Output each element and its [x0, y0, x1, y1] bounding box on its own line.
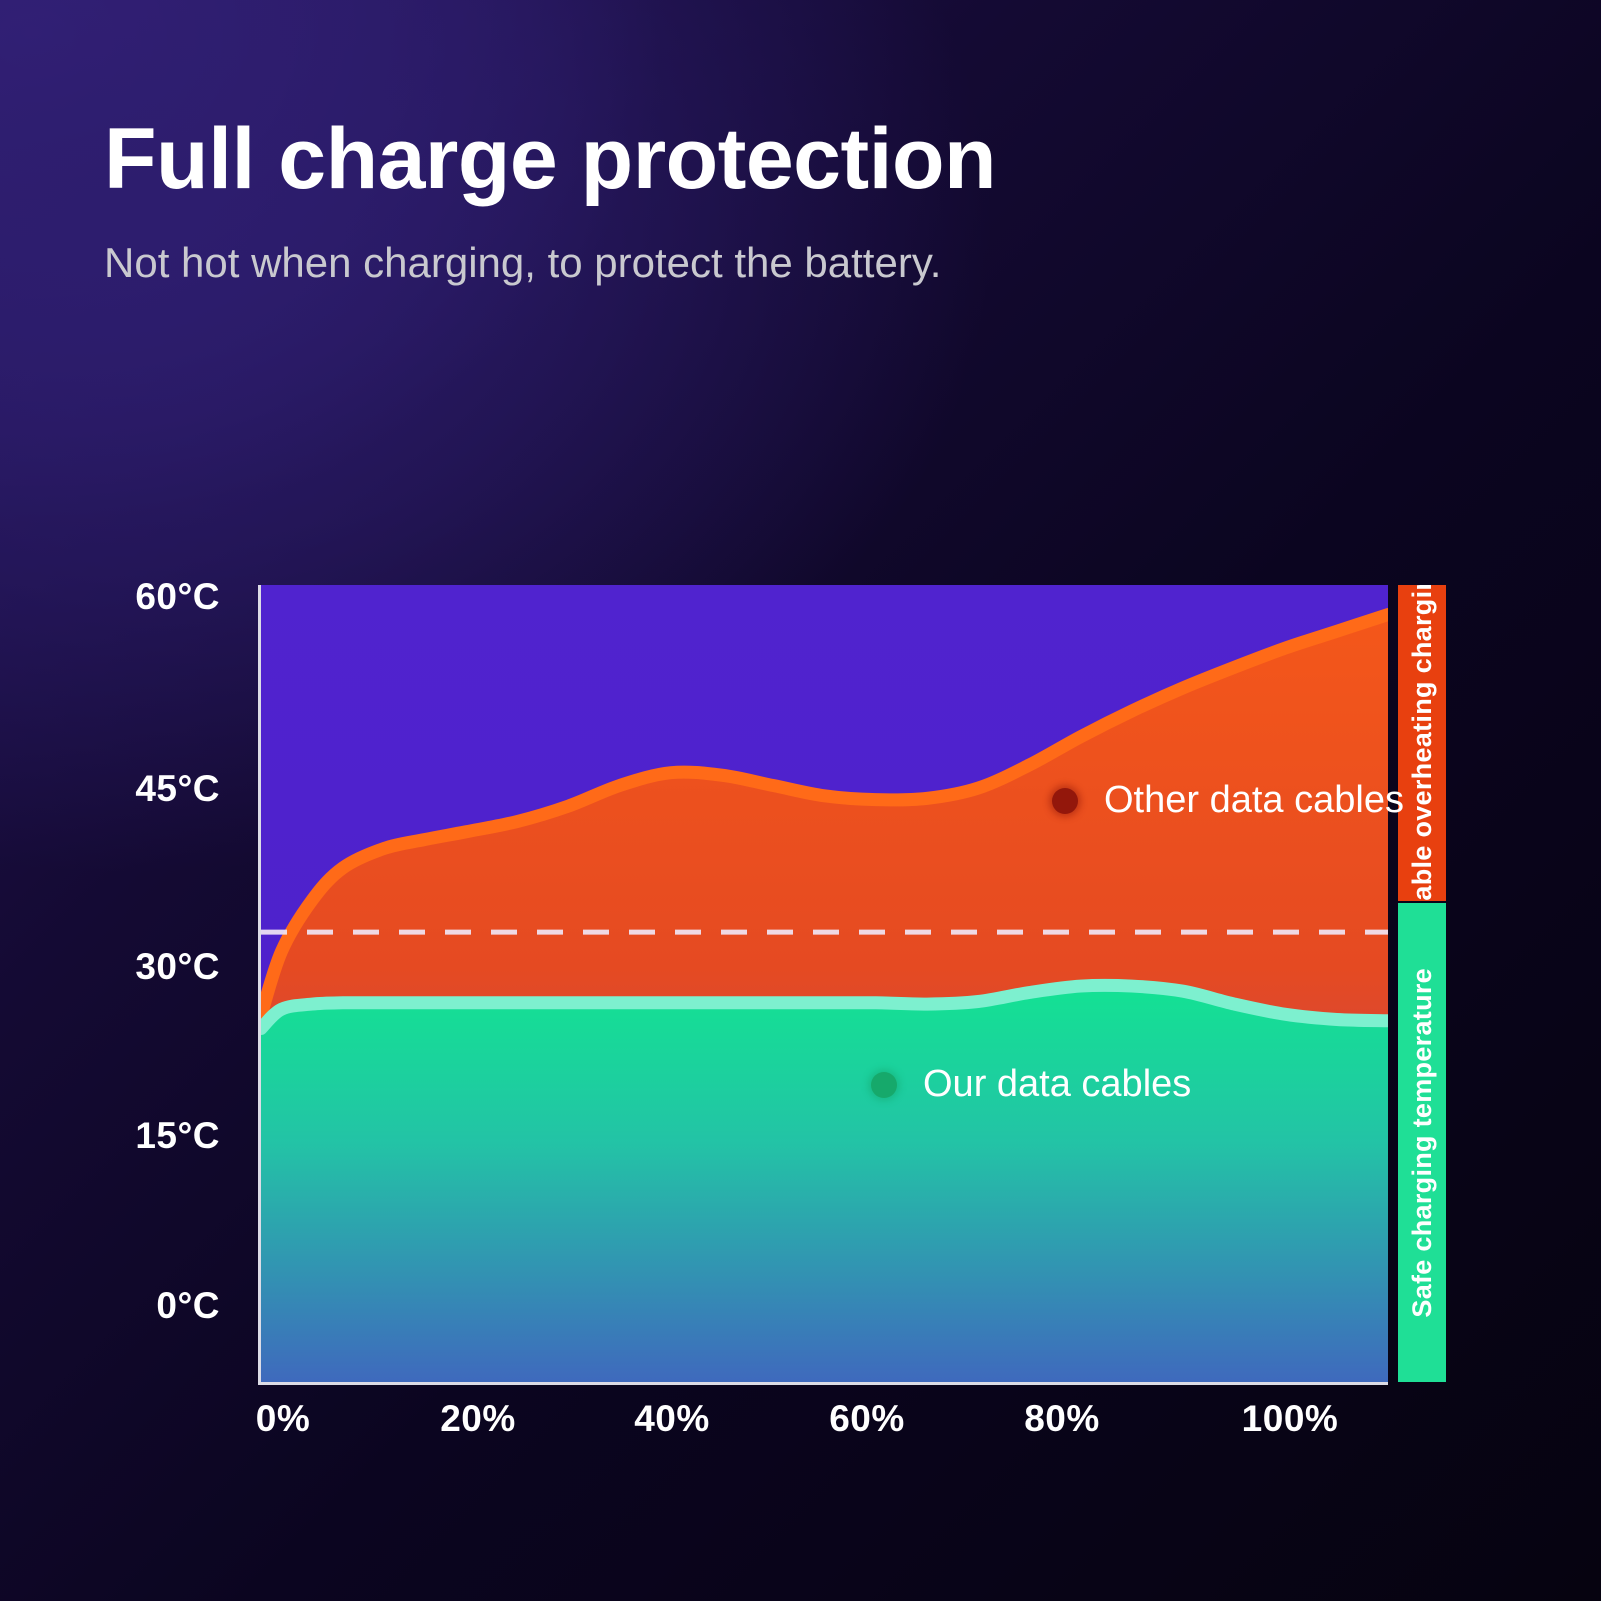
- y-axis-tick: 45°C: [40, 768, 220, 810]
- band-hot-label: Stable overheating charging: [1407, 585, 1438, 901]
- legend-label: Other data cables: [1078, 779, 1404, 822]
- band-safe-charging-temperature: Safe charging temperature: [1398, 903, 1446, 1382]
- temperature-chart: 60°C 45°C 30°C 15°C 0°C 0% 20% 40% 60% 8…: [0, 0, 1601, 1601]
- y-axis-tick: 0°C: [40, 1285, 220, 1327]
- x-axis-tick: 60%: [829, 1398, 905, 1440]
- legend-dot-icon: [871, 1072, 897, 1098]
- band-stable-overheating-charging: Stable overheating charging: [1398, 585, 1446, 901]
- legend-item-other-data-cables: Other data cables: [1052, 779, 1404, 822]
- x-axis-tick: 80%: [1024, 1398, 1100, 1440]
- promo-card: Full charge protection Not hot when char…: [0, 0, 1601, 1601]
- series-our-data-cables-area: [261, 985, 1388, 1382]
- x-axis-tick: 100%: [1242, 1398, 1339, 1440]
- y-axis-tick: 60°C: [40, 576, 220, 618]
- legend-item-our-data-cables: Our data cables: [871, 1063, 1191, 1106]
- plot-area: [258, 585, 1388, 1385]
- x-axis-tick: 40%: [634, 1398, 710, 1440]
- legend-dot-icon: [1052, 788, 1078, 814]
- band-safe-label: Safe charging temperature: [1407, 968, 1438, 1318]
- x-axis-tick: 0%: [256, 1398, 310, 1440]
- y-axis-tick: 30°C: [40, 946, 220, 988]
- x-axis-tick: 20%: [440, 1398, 516, 1440]
- plot-inner: [261, 585, 1388, 1382]
- y-axis-tick: 15°C: [40, 1115, 220, 1157]
- series-canvas: [261, 585, 1388, 1382]
- legend-label: Our data cables: [897, 1063, 1191, 1106]
